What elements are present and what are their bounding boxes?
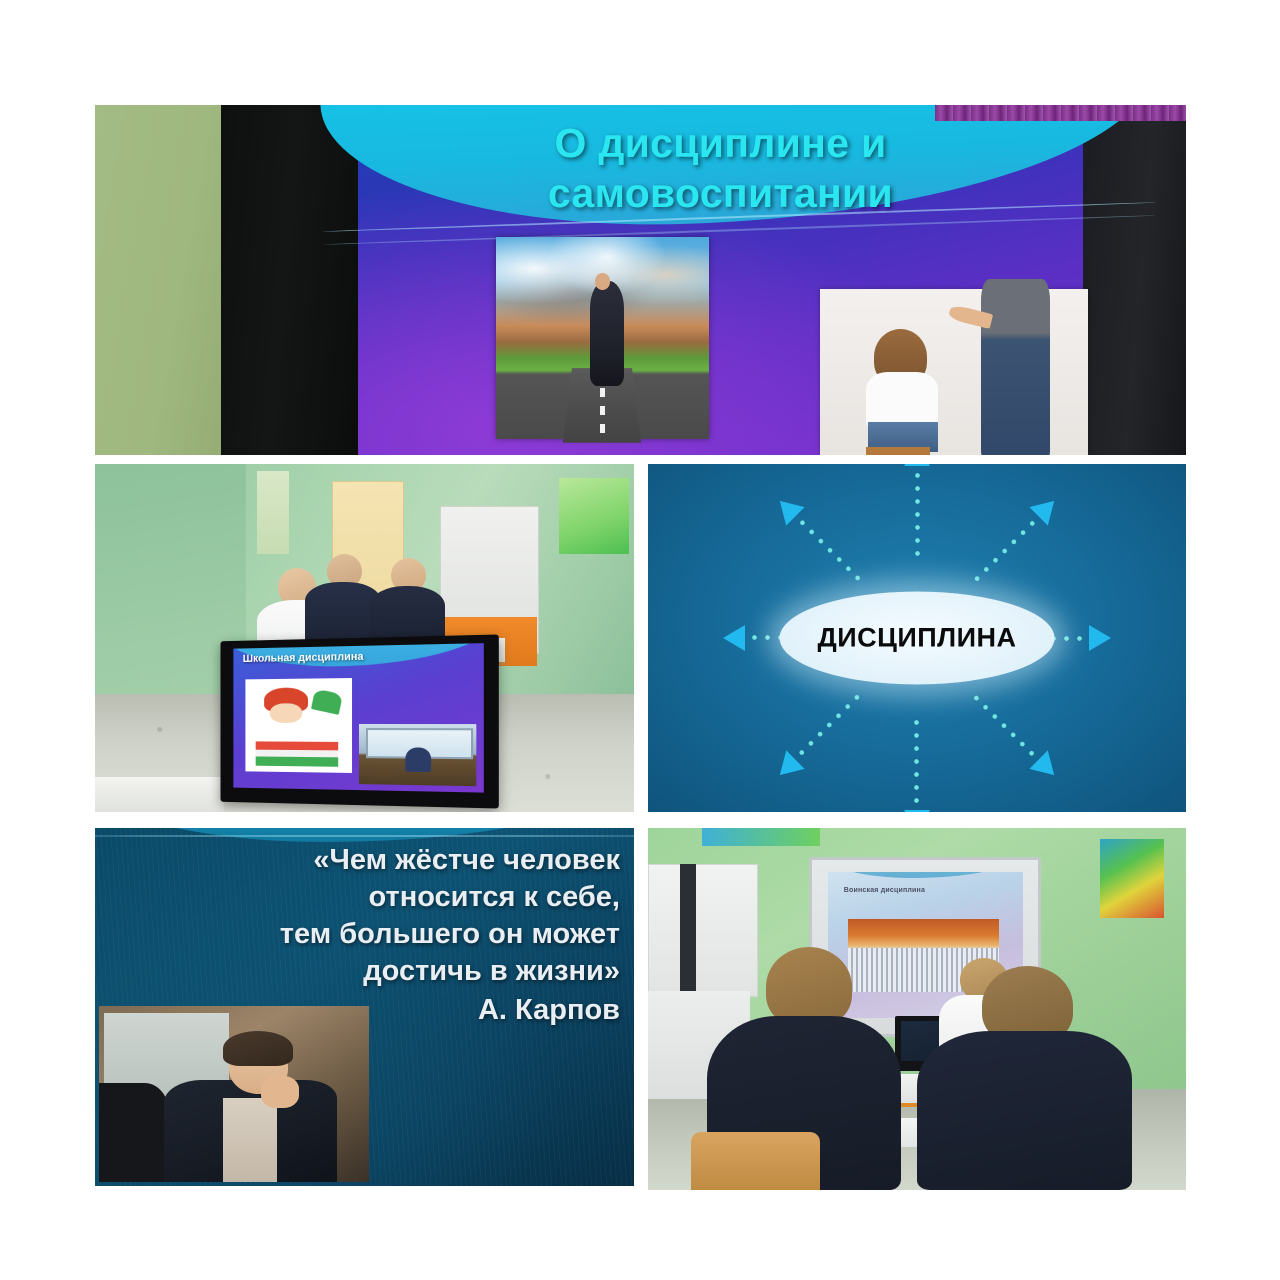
quote-line-2: относится к себе, — [124, 879, 620, 916]
wall-poster-green — [559, 478, 629, 555]
whiteboard-slide-title: Воинская дисциплина — [844, 887, 1007, 894]
arrow-head-icon — [723, 625, 745, 651]
storage-cabinet — [648, 864, 758, 996]
dark-curtain-right — [1083, 105, 1186, 455]
man-walking-road-photo — [496, 237, 709, 439]
light-shirt — [223, 1098, 277, 1182]
panel-students-watching: Воинская дисциплина — [648, 828, 1186, 1190]
panel-quote-slide: «Чем жёстче человек относится к себе, те… — [95, 828, 634, 1186]
panel-projector-screen: О дисциплине и самовоспитании — [95, 105, 1186, 455]
purple-curtain-strip — [935, 105, 1186, 121]
wooden-stool — [866, 447, 930, 455]
presentation-monitor[interactable]: Школьная дисциплина — [220, 634, 499, 808]
quote-text: «Чем жёстче человек относится к себе, те… — [124, 842, 620, 1030]
dark-curtain — [221, 105, 361, 455]
monitor-screen: Школьная дисциплина — [233, 643, 484, 792]
walking-man-head — [595, 273, 610, 289]
arrow-head-icon — [904, 464, 930, 466]
arrow-head-icon — [1089, 625, 1111, 651]
slide-title-line-2: самовоспитании — [358, 168, 1083, 218]
parent-scolding-child-photo — [820, 289, 1088, 455]
slide-wave-decoration — [828, 872, 1022, 878]
arrow-dots — [915, 464, 920, 560]
quote-line-4: достичь в жизни» — [124, 953, 620, 990]
adult-figure — [981, 279, 1051, 455]
arrow-dots — [914, 716, 919, 812]
walking-man-figure — [590, 281, 624, 386]
wall-chart — [257, 471, 289, 555]
discipline-center-node: ДИСЦИПЛИНА — [780, 592, 1055, 685]
quote-line-1: «Чем жёстче человек — [124, 842, 620, 879]
karpov-portrait-photo — [99, 1006, 369, 1182]
stack-of-books — [255, 742, 338, 767]
student-head-left-boy — [766, 947, 852, 1027]
wooden-chair-back — [691, 1132, 820, 1190]
child-body — [866, 372, 938, 428]
resting-hand — [261, 1076, 299, 1108]
discipline-center-label: ДИСЦИПЛИНА — [817, 623, 1016, 654]
left-desk — [95, 777, 224, 812]
panel-classroom-monitor: Школьная дисциплина — [95, 464, 634, 812]
slide-title-line-1: О дисциплине и — [358, 118, 1083, 168]
photo-collage: О дисциплине и самовоспитании — [0, 0, 1280, 1280]
wall-artwork — [1100, 839, 1165, 919]
student-body-right-boy — [917, 1031, 1132, 1190]
portrait-hair — [223, 1031, 293, 1066]
office-chair — [99, 1083, 169, 1182]
title-slide: О дисциплине и самовоспитании — [358, 113, 1083, 455]
arrow-head-icon — [904, 810, 930, 812]
desk-lamp — [310, 689, 342, 715]
panel-discipline-diagram: ДИСЦИПЛИНА — [648, 464, 1186, 812]
cartoon-student-image — [245, 678, 352, 773]
pupil-at-desk-photo — [359, 724, 476, 787]
seated-pupil — [405, 747, 431, 772]
cartoon-boy-face — [270, 703, 302, 724]
slide-title: О дисциплине и самовоспитании — [358, 118, 1083, 218]
quote-line-3: тем большего он может — [124, 916, 620, 953]
cabinet-divider — [680, 864, 696, 994]
classroom-wall — [95, 105, 223, 455]
wall-artwork-top — [702, 828, 820, 846]
